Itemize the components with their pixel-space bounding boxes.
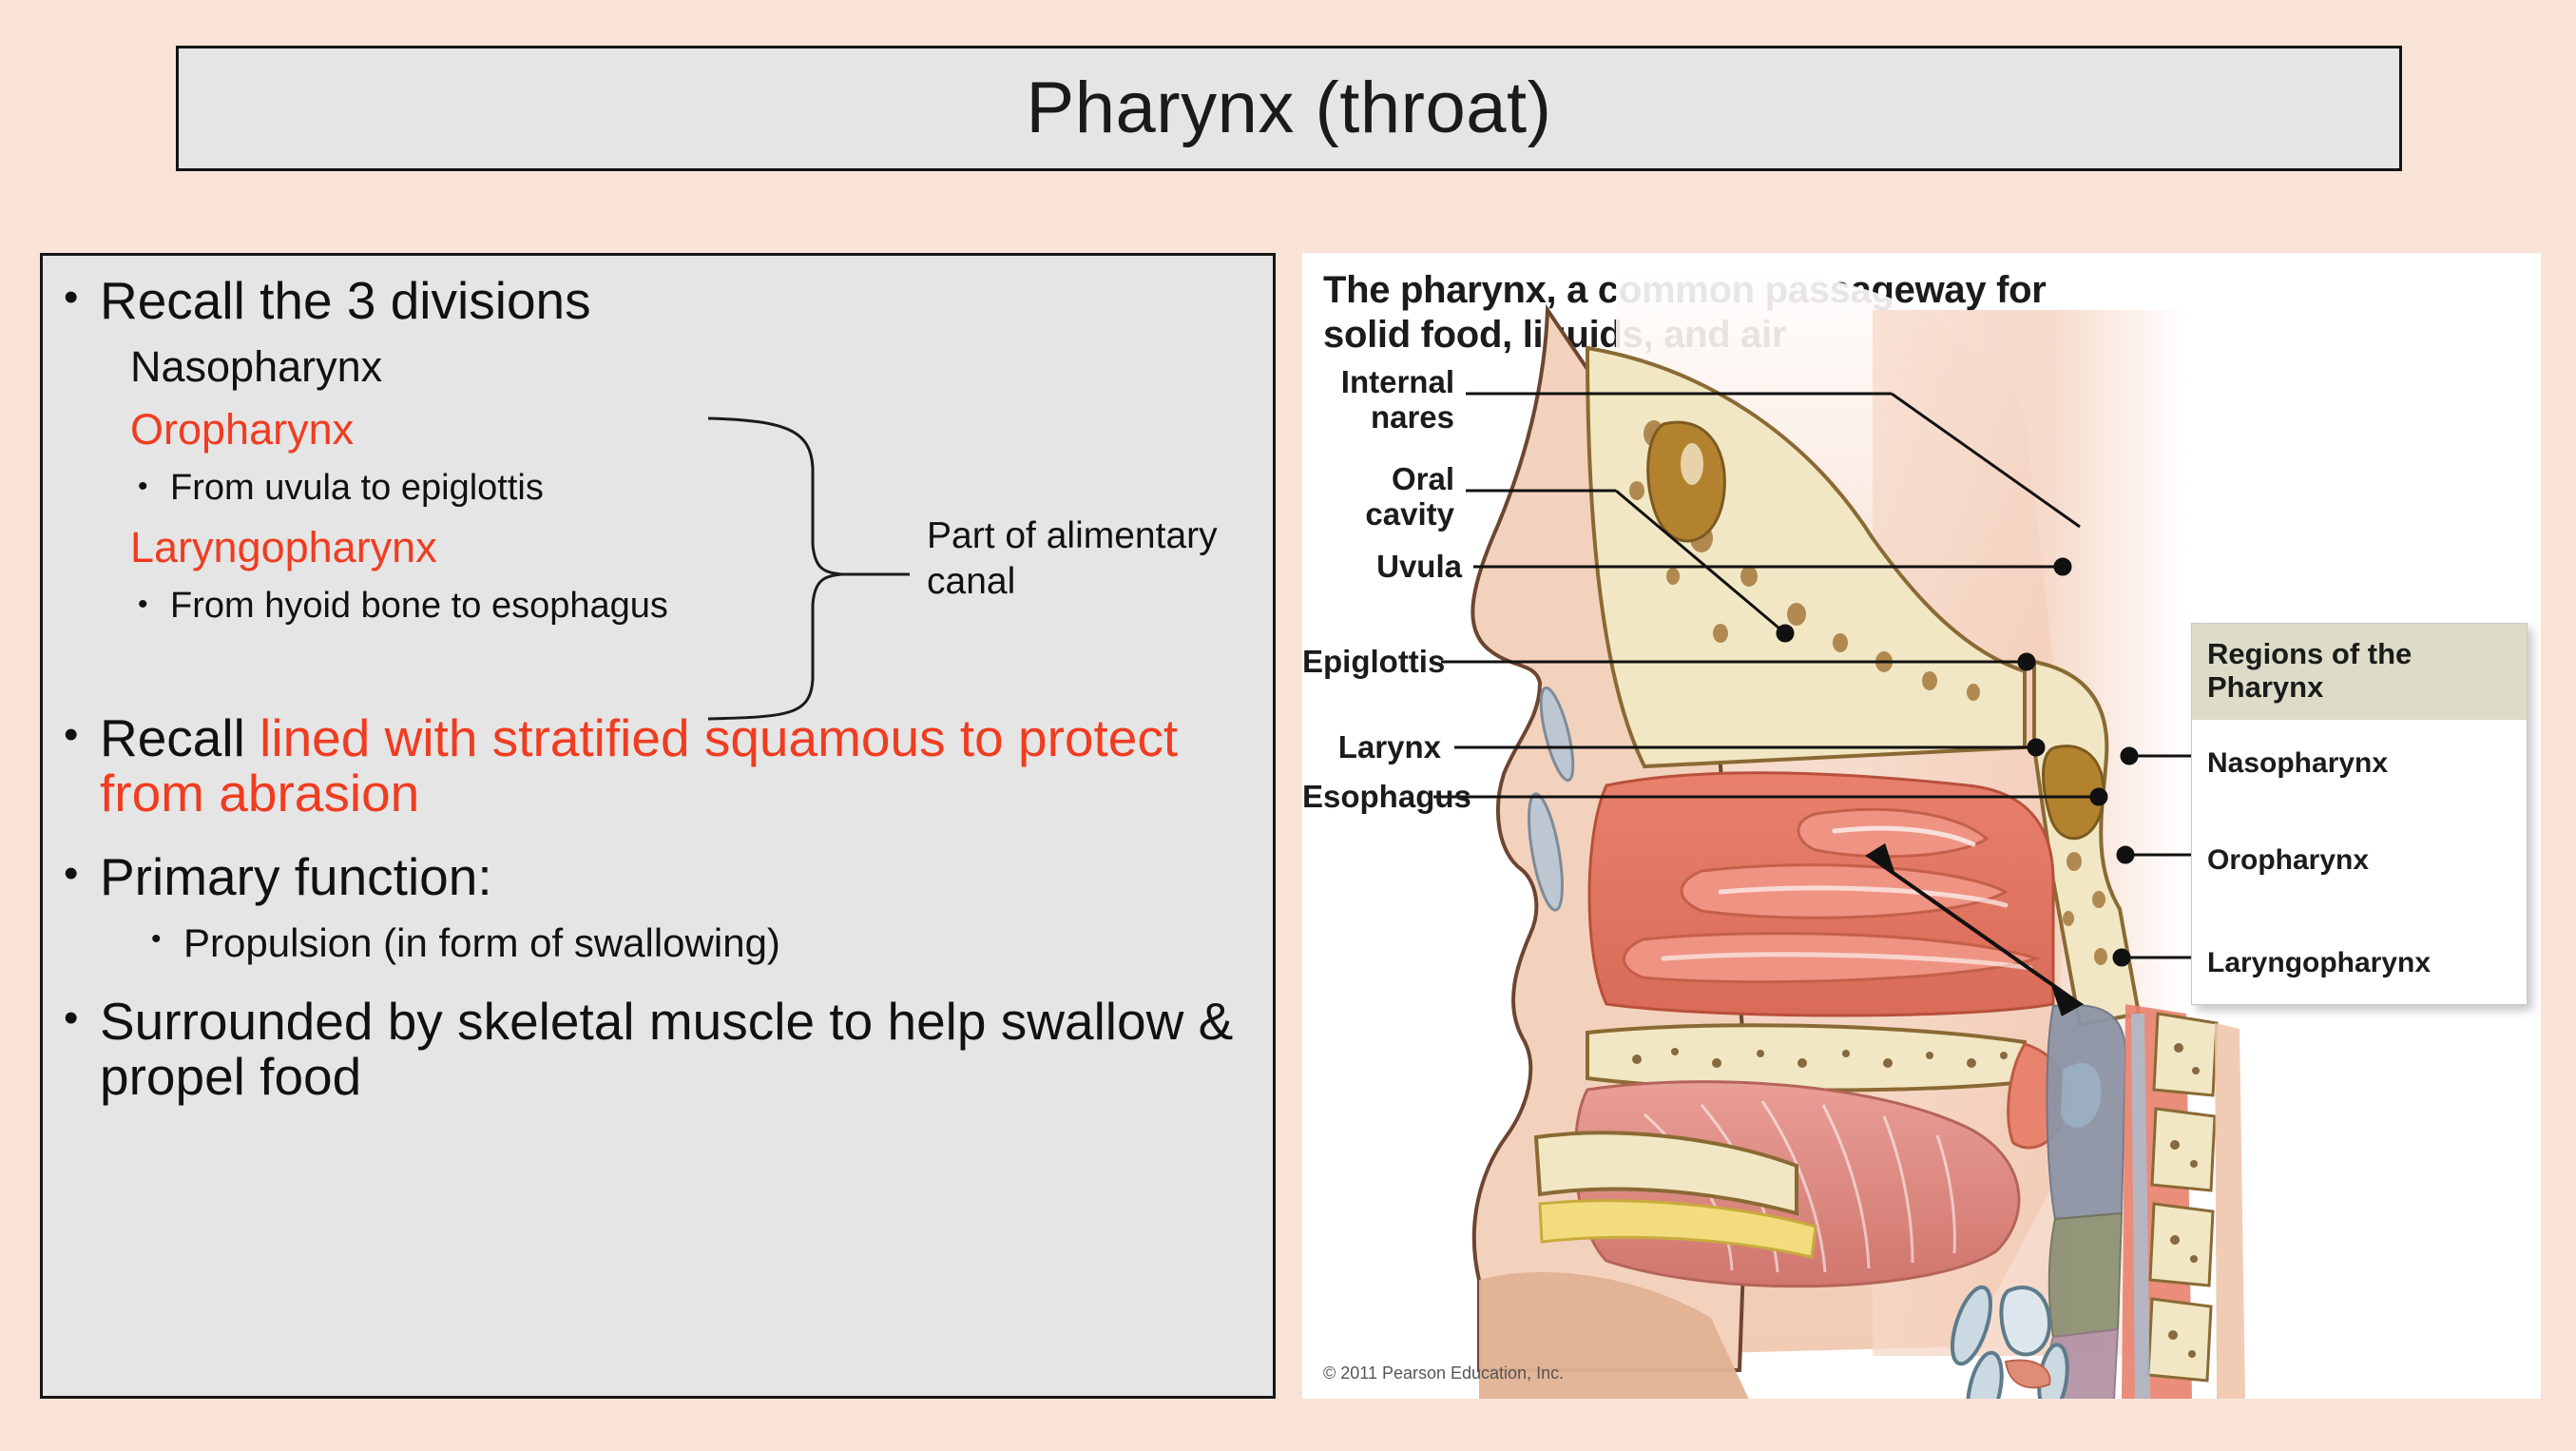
copyright-notice: © 2011 Pearson Education, Inc. bbox=[1323, 1364, 1564, 1383]
bullet-primary-function: • Primary function: bbox=[64, 849, 1252, 904]
bullet-recall-divisions-label: Recall the 3 divisions bbox=[100, 273, 1252, 328]
anat-label-oral-cavity: Oral cavity bbox=[1312, 462, 1454, 532]
anat-label-larynx: Larynx bbox=[1302, 730, 1441, 765]
bullet-lining-prefix: Recall bbox=[100, 708, 260, 767]
anat-label-uvula: Uvula bbox=[1312, 550, 1462, 585]
anat-label-internal-nares: Internal nares bbox=[1312, 365, 1454, 435]
division-oropharynx-detail: • From uvula to epiglottis bbox=[138, 468, 1252, 509]
legend-item-laryngopharynx: Laryngopharynx bbox=[2207, 947, 2431, 979]
bullet-lining-highlight: lined with stratified squamous to protec… bbox=[100, 708, 1178, 822]
slide-title-box: Pharynx (throat) bbox=[176, 46, 2402, 171]
bullet-propulsion-label: Propulsion (in form of swallowing) bbox=[183, 920, 780, 965]
division-nasopharynx: Nasopharynx bbox=[130, 343, 1252, 391]
regions-legend-box: Regions of the Pharynx Nasopharynx Oroph… bbox=[2191, 623, 2528, 1005]
bullet-propulsion: • Propulsion (in form of swallowing) bbox=[151, 920, 1252, 965]
bullet-marker-icon: • bbox=[64, 994, 100, 1043]
content-panel: • Recall the 3 divisions Nasopharynx Oro… bbox=[40, 253, 1276, 1399]
bullet-marker-icon: • bbox=[64, 849, 100, 899]
figure-caption: The pharynx, a common passageway for sol… bbox=[1323, 268, 2065, 358]
division-oropharynx: Oropharynx bbox=[130, 406, 1252, 454]
bullet-marker-icon: • bbox=[64, 710, 100, 760]
bullet-lining: • Recall lined with stratified squamous … bbox=[64, 710, 1252, 822]
bullet-recall-divisions: • Recall the 3 divisions bbox=[64, 273, 1252, 328]
legend-item-nasopharynx: Nasopharynx bbox=[2207, 747, 2388, 780]
bullet-marker-icon: • bbox=[151, 920, 183, 959]
division-laryngopharynx-detail-label: From hyoid bone to esophagus bbox=[170, 586, 668, 627]
division-oropharynx-detail-label: From uvula to epiglottis bbox=[170, 468, 544, 509]
bullet-primary-function-label: Primary function: bbox=[100, 849, 1252, 904]
bullet-marker-icon: • bbox=[138, 468, 170, 507]
bullet-marker-icon: • bbox=[64, 273, 100, 322]
bullet-marker-icon: • bbox=[138, 586, 170, 625]
anat-label-epiglottis: Epiglottis bbox=[1302, 645, 1428, 680]
bullet-skeletal-muscle-label: Surrounded by skeletal muscle to help sw… bbox=[100, 994, 1252, 1105]
brace-caption: Part of alimentary canal bbox=[927, 513, 1269, 604]
legend-item-oropharynx: Oropharynx bbox=[2207, 844, 2369, 877]
anat-label-esophagus: Esophagus bbox=[1302, 780, 1420, 815]
bullet-skeletal-muscle: • Surrounded by skeletal muscle to help … bbox=[64, 994, 1252, 1105]
regions-legend-title: Regions of the Pharynx bbox=[2192, 624, 2527, 720]
page-title: Pharynx (throat) bbox=[1027, 72, 1552, 145]
